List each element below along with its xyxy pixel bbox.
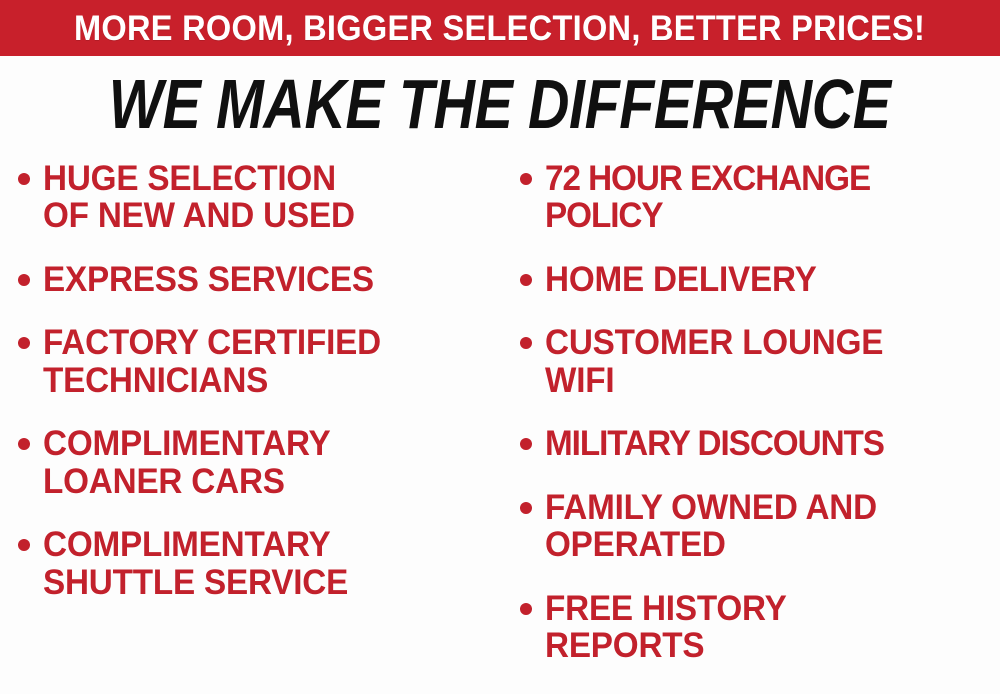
bullet-dot-icon — [520, 337, 532, 349]
bullet-dot-icon — [520, 274, 532, 286]
list-item-label: FAMILY OWNED AND OPERATED — [545, 489, 877, 564]
list-item-label: HUGE SELECTION OF NEW AND USED — [43, 160, 355, 235]
list-item: HUGE SELECTION OF NEW AND USED — [18, 160, 496, 235]
list-item: HOME DELIVERY — [520, 261, 1000, 298]
top-promo-banner-text: MORE ROOM, BIGGER SELECTION, BETTER PRIC… — [74, 11, 925, 46]
list-item: COMPLIMENTARY SHUTTLE SERVICE — [18, 526, 496, 601]
list-item-label: EXPRESS SERVICES — [43, 261, 374, 298]
bullet-dot-icon — [520, 438, 532, 450]
bullet-dot-icon — [18, 337, 30, 349]
list-item-label: CUSTOMER LOUNGE WIFI — [545, 324, 883, 399]
bullet-dot-icon — [18, 539, 30, 551]
list-item-label: COMPLIMENTARY SHUTTLE SERVICE — [43, 526, 348, 601]
list-item: 72 HOUR EXCHANGE POLICY — [520, 160, 1000, 235]
features-columns: HUGE SELECTION OF NEW AND USED EXPRESS S… — [0, 160, 1000, 694]
bullet-dot-icon — [18, 274, 30, 286]
list-item-label: MILITARY DISCOUNTS — [545, 425, 884, 462]
list-item: MILITARY DISCOUNTS — [520, 425, 1000, 462]
page-title: WE MAKE THE DIFFERENCE — [109, 69, 891, 139]
bullet-dot-icon — [18, 173, 30, 185]
headline-container: WE MAKE THE DIFFERENCE — [0, 64, 1000, 144]
list-item: FAMILY OWNED AND OPERATED — [520, 489, 1000, 564]
list-item: FACTORY CERTIFIED TECHNICIANS — [18, 324, 496, 399]
bullet-dot-icon — [520, 502, 532, 514]
bullet-dot-icon — [520, 603, 532, 615]
list-item-label: COMPLIMENTARY LOANER CARS — [43, 425, 331, 500]
list-item: CUSTOMER LOUNGE WIFI — [520, 324, 1000, 399]
list-item: EXPRESS SERVICES — [18, 261, 496, 298]
bullet-dot-icon — [520, 173, 532, 185]
list-item: FREE HISTORY REPORTS — [520, 590, 1000, 665]
list-item-label: FREE HISTORY REPORTS — [545, 590, 787, 665]
features-column-right: 72 HOUR EXCHANGE POLICY HOME DELIVERY CU… — [500, 160, 1000, 690]
top-promo-banner: MORE ROOM, BIGGER SELECTION, BETTER PRIC… — [0, 0, 1000, 56]
list-item-label: 72 HOUR EXCHANGE POLICY — [545, 160, 870, 235]
bullet-dot-icon — [18, 438, 30, 450]
list-item-label: FACTORY CERTIFIED TECHNICIANS — [43, 324, 381, 399]
list-item: COMPLIMENTARY LOANER CARS — [18, 425, 496, 500]
list-item-label: HOME DELIVERY — [545, 261, 817, 298]
promotional-banner: MORE ROOM, BIGGER SELECTION, BETTER PRIC… — [0, 0, 1000, 694]
features-column-left: HUGE SELECTION OF NEW AND USED EXPRESS S… — [0, 160, 500, 627]
